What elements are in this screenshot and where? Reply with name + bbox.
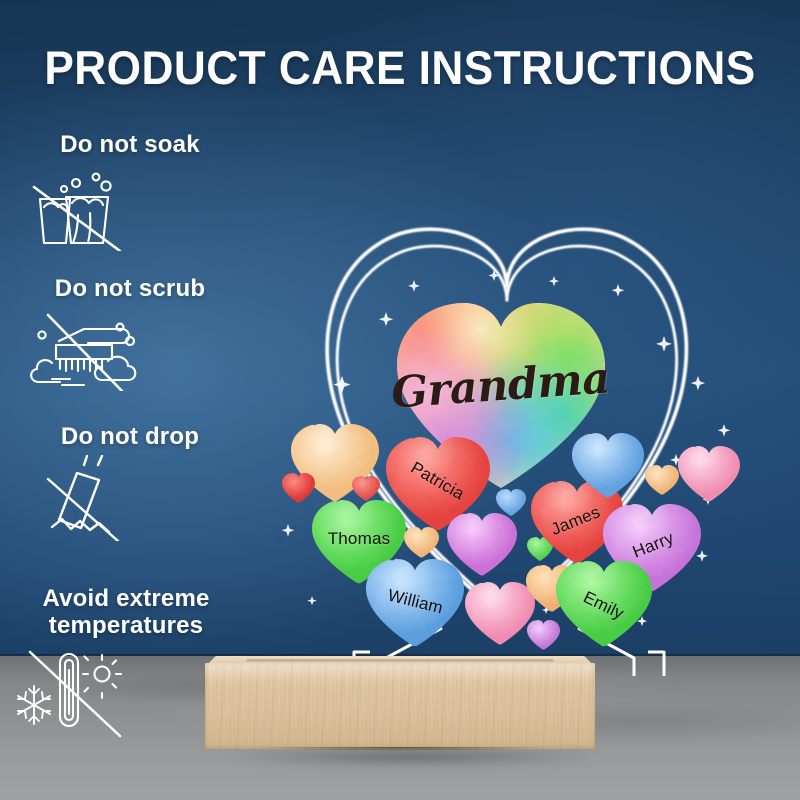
care-item-scrub-label: Do not scrub [22,276,238,303]
decorative-heart-blue [572,433,644,498]
acrylic-stand-right-foot [648,652,664,676]
decorative-heart-red-small [282,473,315,503]
wooden-base-slot [245,659,555,661]
decorative-heart-peach-right [645,465,679,495]
page-title: PRODUCT CARE INSTRUCTIONS [24,44,776,91]
wooden-base [205,648,595,756]
decorative-heart-pink-bottom [465,582,535,645]
care-item-drop: Do not drop [22,424,238,541]
care-item-soak: Do not soak [22,132,238,251]
care-item-drop-label: Do not drop [22,424,238,451]
named-heart-emily: Emily [556,561,652,647]
scene: PRODUCT CARE INSTRUCTIONS Do not soak Do… [0,0,800,800]
care-item-temperature-label: Avoid extreme temperatures [8,586,244,640]
no-soak-bucket-icon [22,163,238,251]
decorative-heart-peach-tiny [404,527,439,558]
decorative-heart-blue-tiny [496,489,526,516]
named-heart-william: William [366,559,464,647]
decorative-heart-red-tiny [352,476,380,501]
wooden-base-bottom-edge [203,747,599,753]
named-heart-thomas-label: Thomas [328,529,391,549]
no-drop-icon [22,455,238,541]
wooden-base-front-face [205,663,595,749]
care-item-scrub: Do not scrub [22,276,238,391]
care-item-soak-label: Do not soak [22,132,238,159]
no-scrub-brush-icon [22,307,238,391]
decorative-heart-pink-right [678,446,740,502]
